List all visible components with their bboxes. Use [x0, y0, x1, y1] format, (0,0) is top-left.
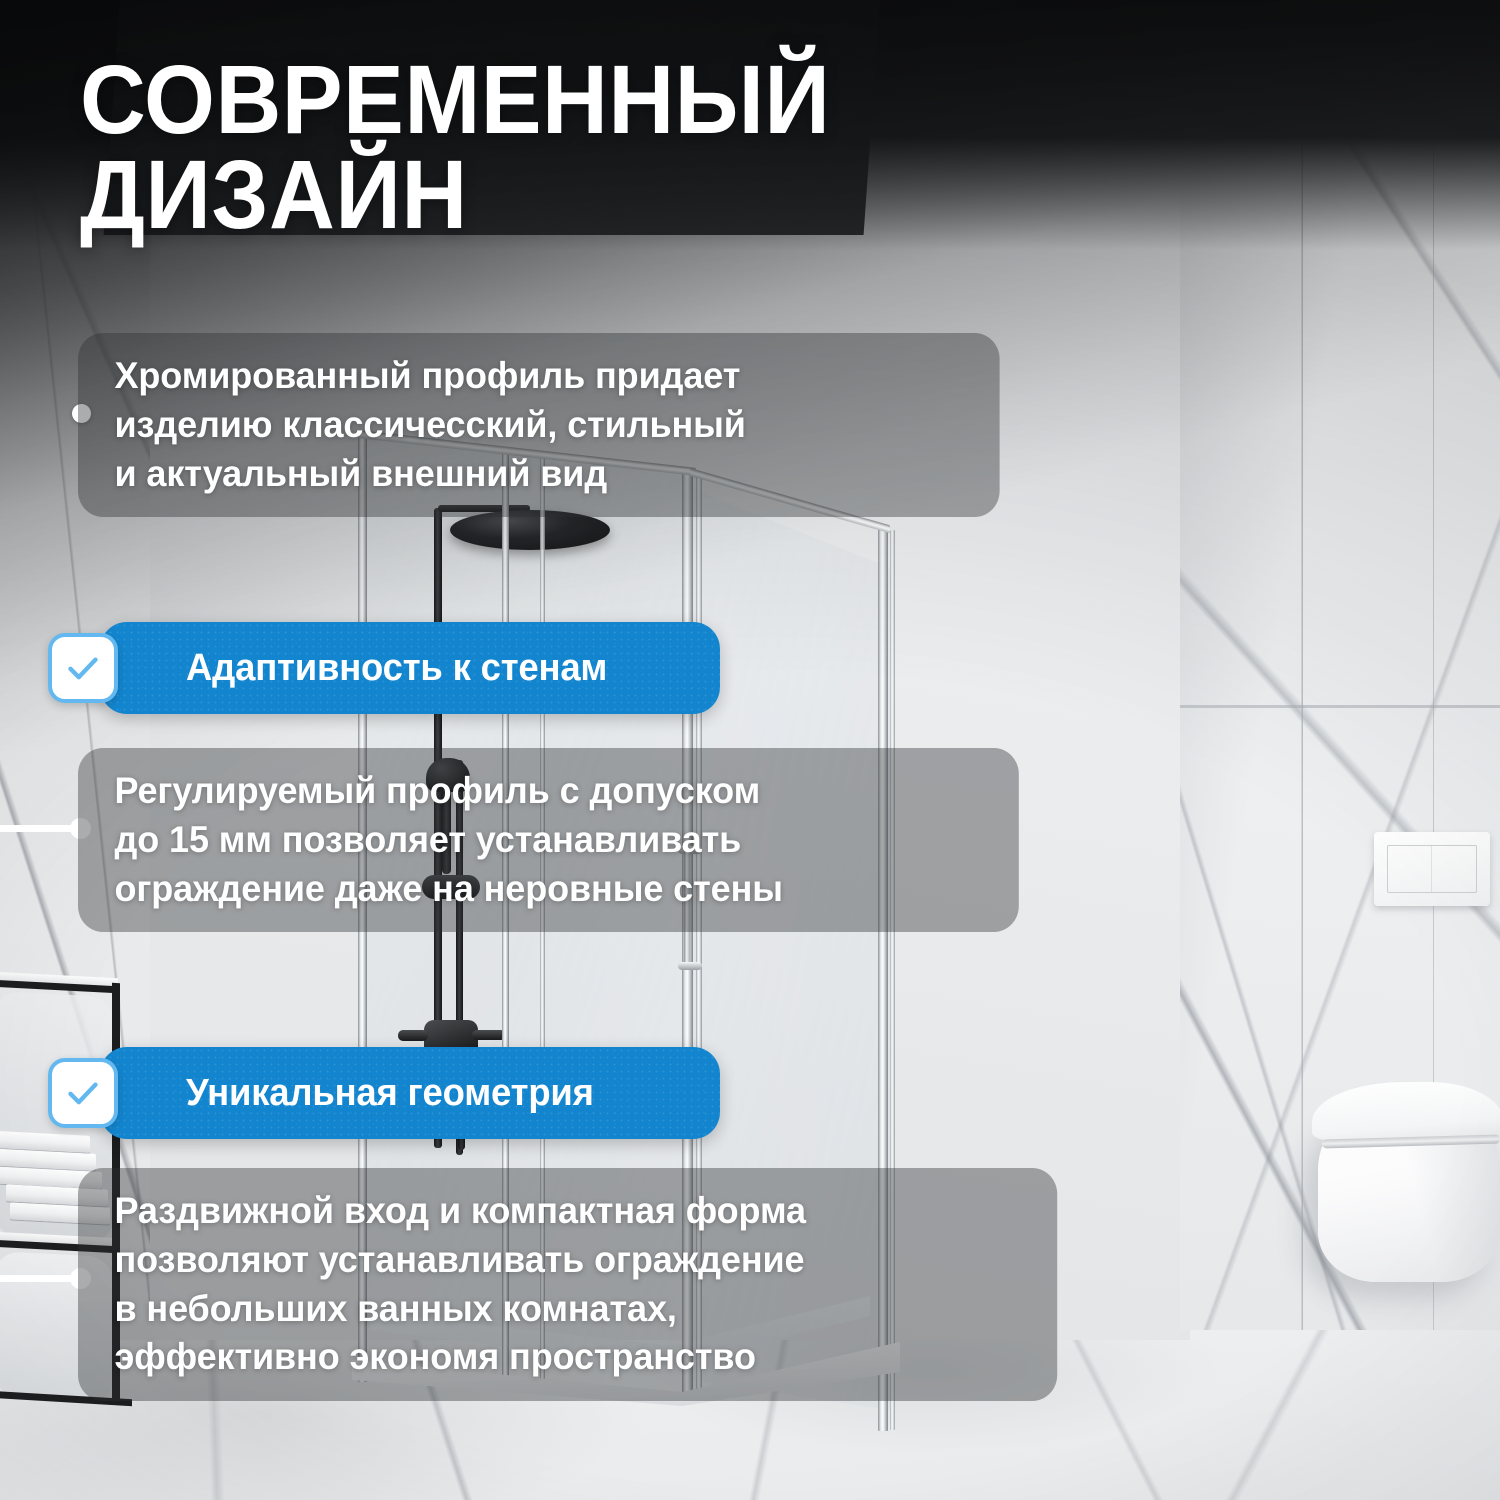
checkbox-check-icon[interactable]	[48, 633, 118, 703]
connector-line	[0, 1275, 82, 1282]
feature-text-chrome-profile: Хромированный профиль придает изделию кл…	[78, 333, 1000, 517]
connector-line	[0, 825, 82, 832]
feature-text-adjustable-profile: Регулируемый профиль с допуском до 15 мм…	[78, 748, 1019, 932]
feature-badge-wall-adaptivity[interactable]: Адаптивность к стенам	[100, 622, 720, 714]
checkbox-check-icon[interactable]	[48, 1058, 118, 1128]
poster-canvas: СОВРЕМЕННЫЙ ДИЗАЙН Хромированный профиль…	[0, 0, 1500, 1500]
feature-badge-unique-geometry[interactable]: Уникальная геометрия	[100, 1047, 720, 1139]
badge-label: Адаптивность к стенам	[186, 647, 607, 690]
badge-label: Уникальная геометрия	[186, 1072, 594, 1115]
feature-text-sliding-entry: Раздвижной вход и компактная форма позво…	[78, 1168, 1057, 1401]
page-title: СОВРЕМЕННЫЙ ДИЗАЙН	[80, 52, 926, 242]
overlay-content: СОВРЕМЕННЫЙ ДИЗАЙН Хромированный профиль…	[0, 0, 1500, 1500]
